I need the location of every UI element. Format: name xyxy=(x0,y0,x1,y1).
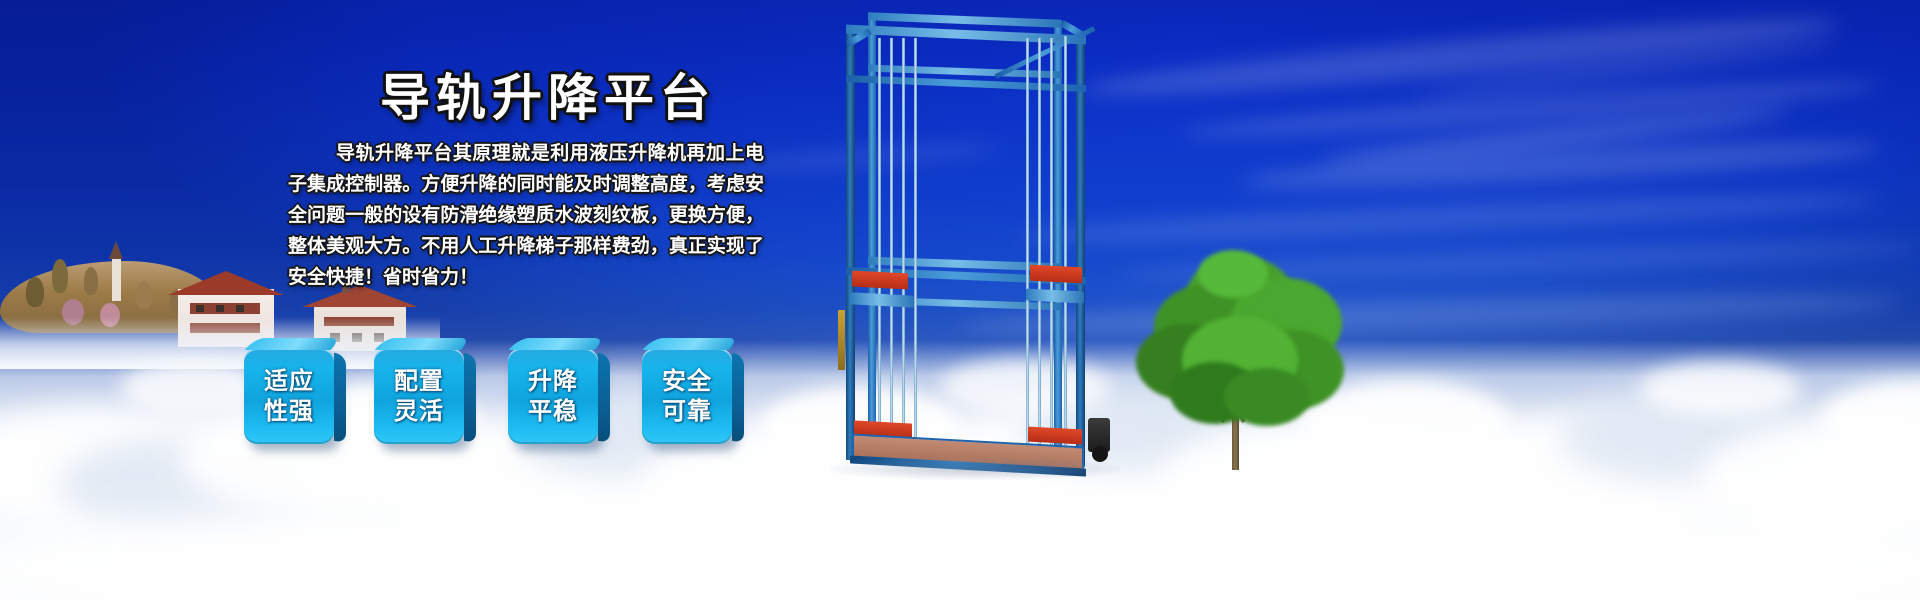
feature-button-smooth-lifting[interactable]: 升降 平稳 xyxy=(508,348,598,444)
feature-label-line2: 性强 xyxy=(264,396,314,426)
description-paragraph: 导轨升降平台其原理就是利用液压升降机再加上电子集成控制器。方便升降的同时能及时调… xyxy=(288,138,764,293)
feature-label-line1: 适应 xyxy=(264,366,314,396)
cirrus-cloud-streak xyxy=(1020,186,1880,249)
feature-button-group: 适应 性强 配置 灵活 升降 平稳 安全 可靠 xyxy=(244,344,784,449)
guide-rail-lift-platform-product xyxy=(820,10,1140,480)
feature-label-line2: 可靠 xyxy=(662,396,712,426)
feature-label-line1: 配置 xyxy=(394,366,444,396)
feature-label-line2: 灵活 xyxy=(394,396,444,426)
lift-red-clamp xyxy=(1030,265,1082,284)
lift-side-accessory xyxy=(838,310,845,370)
feature-button-safety[interactable]: 安全 可靠 xyxy=(642,348,732,444)
green-tree xyxy=(1120,250,1350,470)
cirrus-cloud-streak xyxy=(1421,36,1840,101)
feature-label-line1: 升降 xyxy=(528,366,578,396)
feature-label-line2: 平稳 xyxy=(528,396,578,426)
product-ground-shadow xyxy=(830,458,1120,480)
cirrus-cloud-streak xyxy=(1180,72,1880,147)
feature-label-line1: 安全 xyxy=(662,366,712,396)
lift-red-clamp xyxy=(852,271,908,290)
feature-button-adaptability[interactable]: 适应 性强 xyxy=(244,348,334,444)
lift-red-clamp xyxy=(1028,427,1082,445)
cirrus-cloud-streak xyxy=(1240,133,1881,196)
page-title: 导轨升降平台 xyxy=(380,58,716,130)
feature-button-configuration[interactable]: 配置 灵活 xyxy=(374,348,464,444)
cirrus-cloud-streak xyxy=(1080,7,1840,107)
cirrus-cloud-streak xyxy=(1320,103,1789,170)
promo-banner: 导轨升降平台 导轨升降平台其原理就是利用液压升降机再加上电子集成控制器。方便升降… xyxy=(0,0,1920,600)
